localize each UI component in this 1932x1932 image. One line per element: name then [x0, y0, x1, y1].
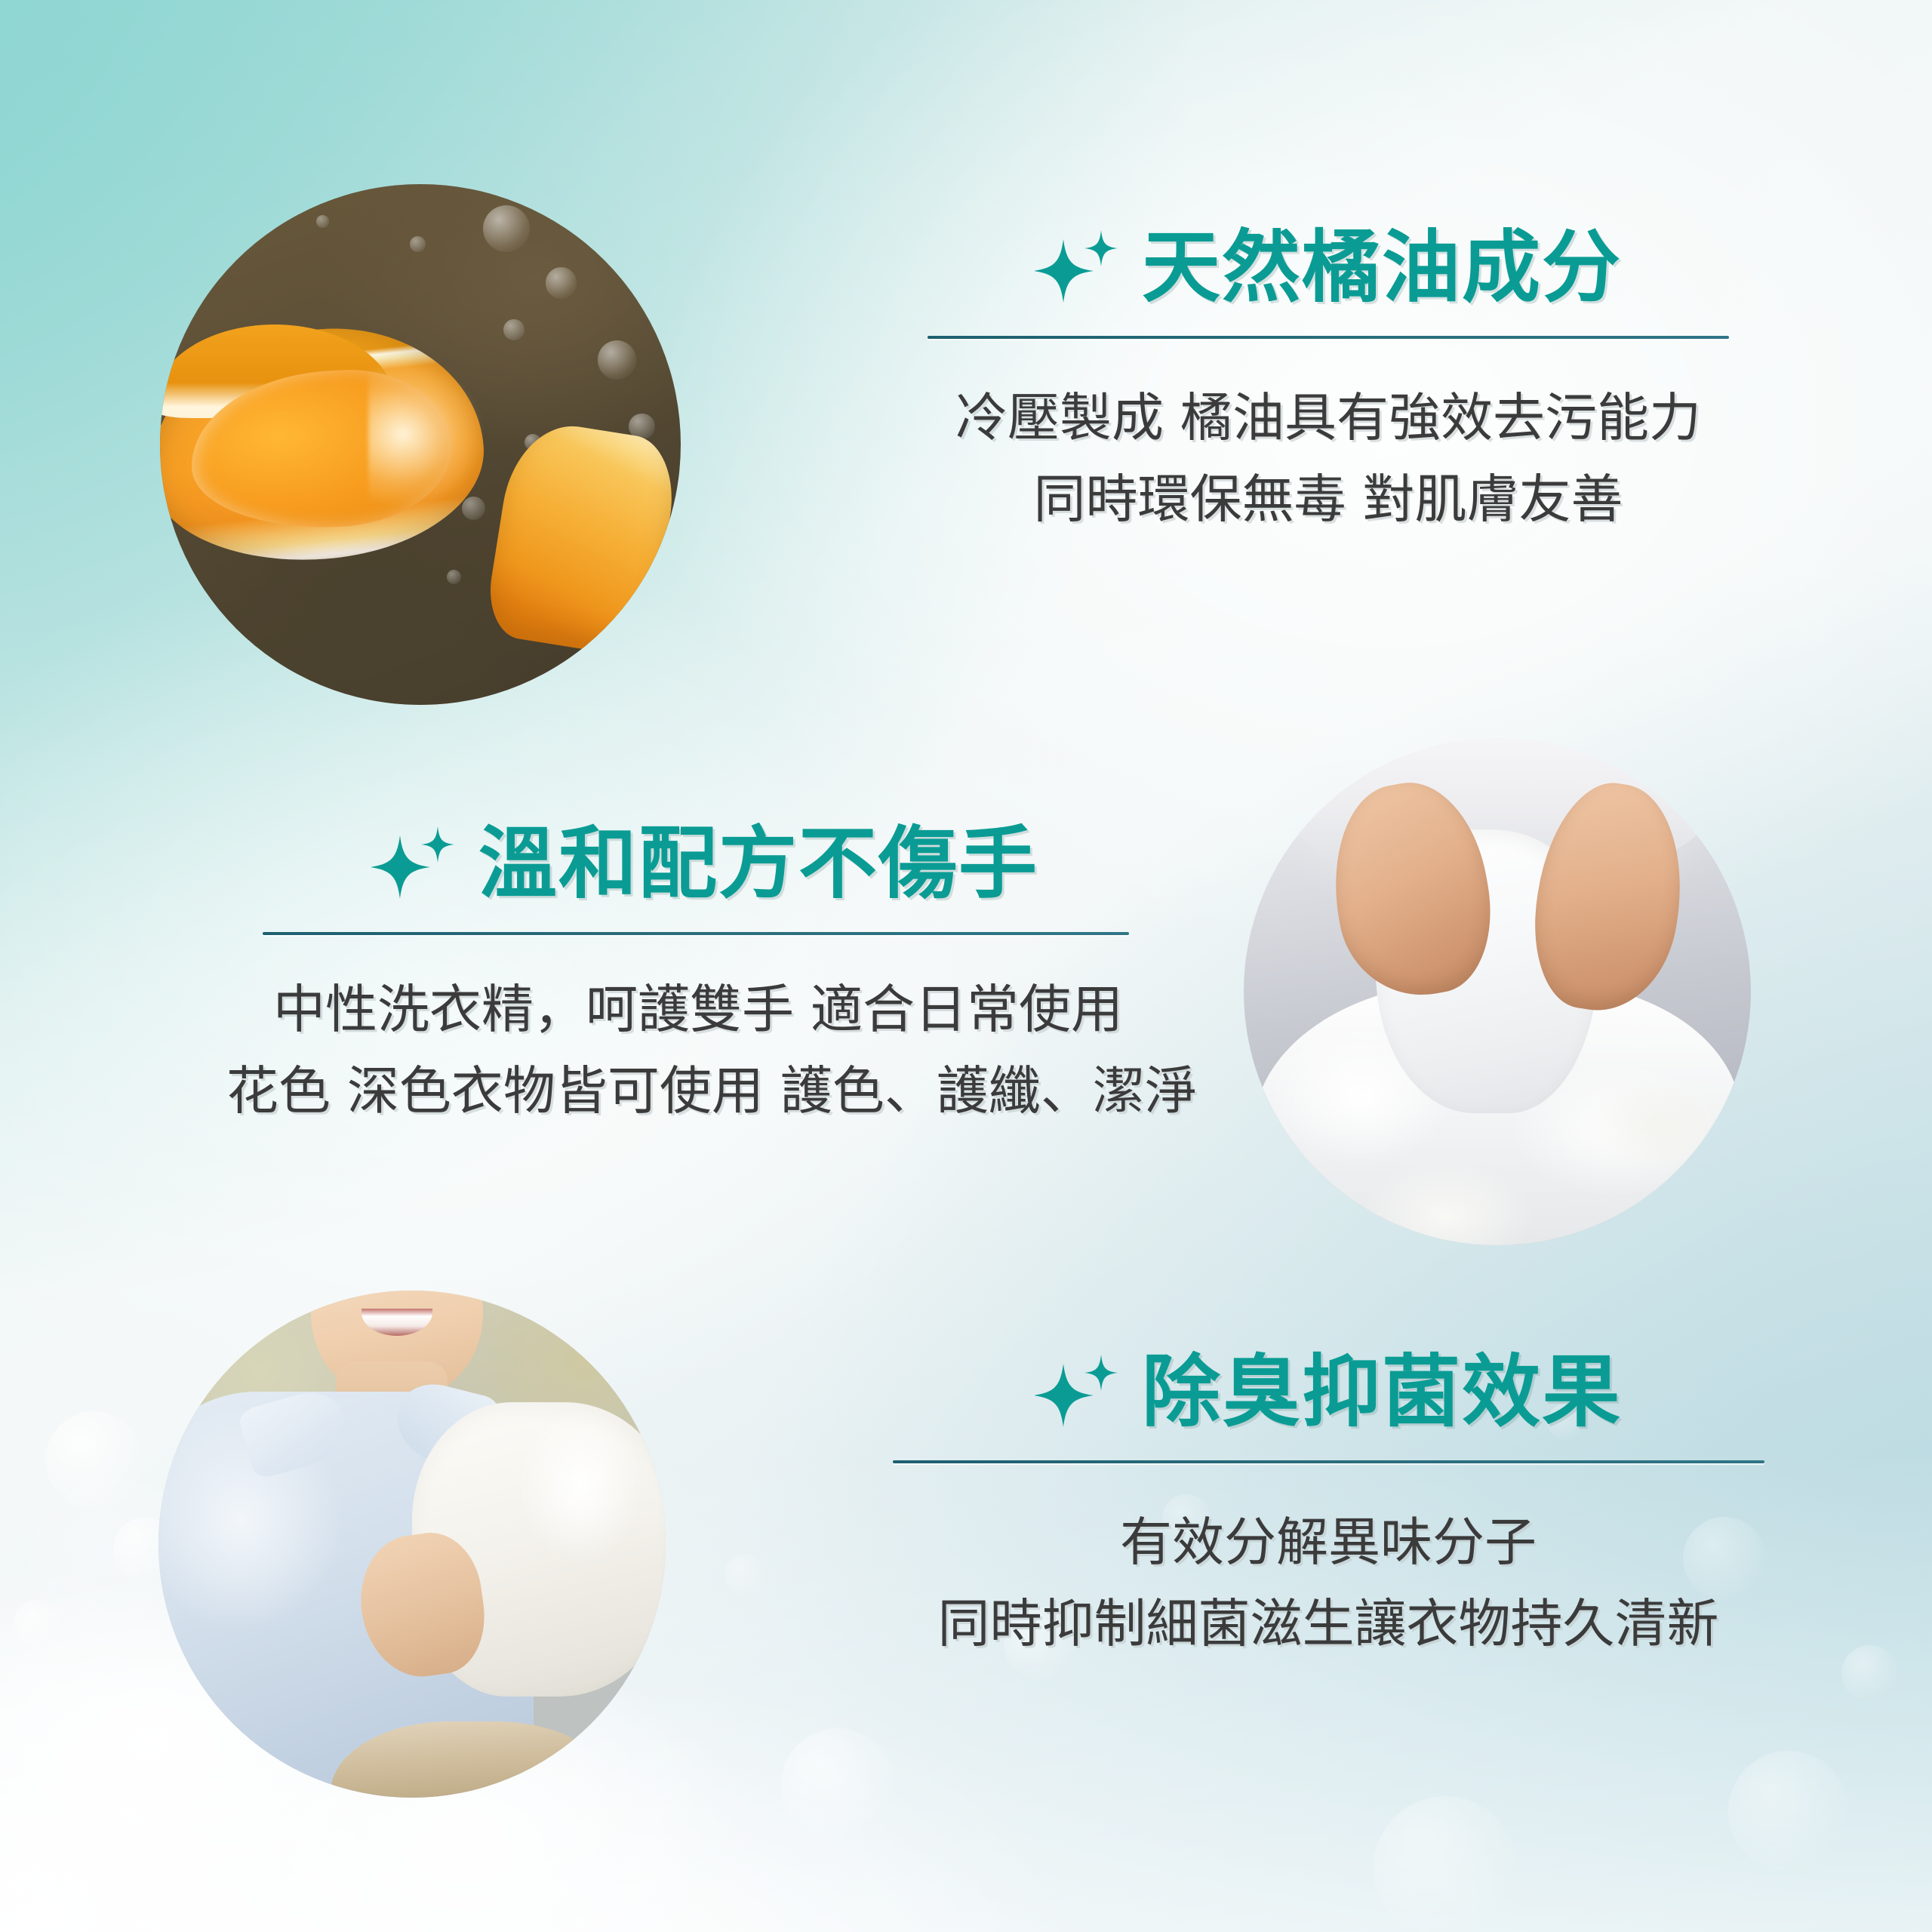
feature-body-line: 中性洗衣精，呵護雙手 適合日常使用	[226, 970, 1170, 1051]
feature-block-deodorize-antibacterial: 除臭抑菌效果 有效分解異味分子 同時抑制細菌滋生讓衣物持久清新	[830, 1351, 1826, 1665]
sparkle-icon	[1035, 229, 1122, 307]
sparkle-icon	[1035, 1353, 1122, 1432]
feature-body: 中性洗衣精，呵護雙手 適合日常使用 花色 深色衣物皆可使用 護色、護纖、潔淨	[226, 970, 1170, 1132]
feature-body-line: 同時環保無毒 對肌膚友善	[830, 460, 1826, 541]
feature-divider	[263, 932, 1129, 935]
feature-heading-row: 除臭抑菌效果	[830, 1351, 1826, 1433]
feature-heading: 溫和配方不傷手	[478, 823, 1038, 905]
woman-fresh-laundry-photo	[158, 1291, 666, 1798]
feature-body: 有效分解異味分子 同時抑制細菌滋生讓衣物持久清新	[830, 1503, 1826, 1665]
feature-body: 冷壓製成 橘油具有強效去污能力 同時環保無毒 對肌膚友善	[830, 378, 1826, 540]
feature-divider	[928, 336, 1729, 339]
feature-block-natural-orange-oil: 天然橘油成分 冷壓製成 橘油具有強效去污能力 同時環保無毒 對肌膚友善	[830, 226, 1826, 540]
feature-heading: 天然橘油成分	[1142, 226, 1622, 309]
feature-heading-row: 溫和配方不傷手	[226, 823, 1170, 905]
feature-divider	[893, 1460, 1764, 1463]
feature-block-gentle-formula: 溫和配方不傷手 中性洗衣精，呵護雙手 適合日常使用 花色 深色衣物皆可使用 護色…	[226, 823, 1170, 1132]
product-feature-poster: 天然橘油成分 冷壓製成 橘油具有強效去污能力 同時環保無毒 對肌膚友善 溫和配方…	[0, 0, 1932, 1932]
feature-heading-row: 天然橘油成分	[830, 226, 1826, 309]
feature-body-line: 同時抑制細菌滋生讓衣物持久清新	[830, 1584, 1826, 1666]
orange-oil-photo	[160, 184, 681, 705]
hands-washing-photo	[1244, 738, 1751, 1245]
feature-heading: 除臭抑菌效果	[1142, 1351, 1622, 1433]
feature-body-line: 有效分解異味分子	[830, 1503, 1826, 1584]
sparkle-icon	[371, 825, 459, 903]
feature-body-line: 花色 深色衣物皆可使用 護色、護纖、潔淨	[226, 1051, 1170, 1133]
feature-body-line: 冷壓製成 橘油具有強效去污能力	[830, 378, 1826, 460]
